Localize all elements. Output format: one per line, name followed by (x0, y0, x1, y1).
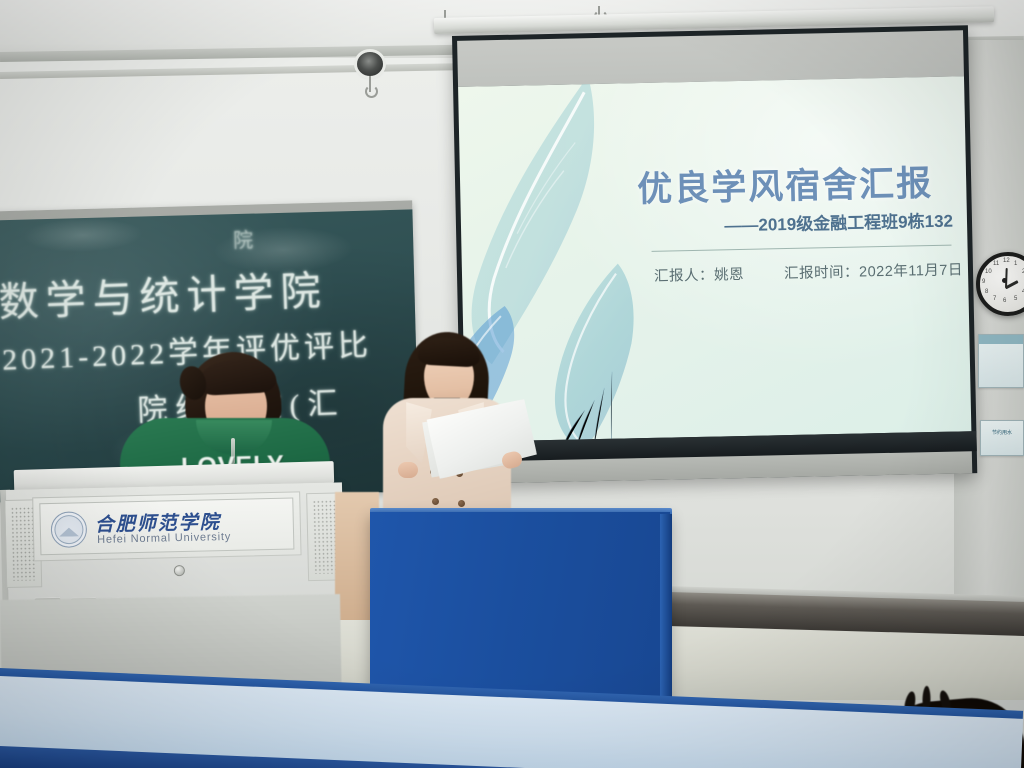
blackboard-line-1: 数学与统计学院 (0, 258, 328, 328)
slide-divider (652, 245, 952, 252)
hand-left (398, 462, 418, 478)
classroom-photo: 院 数学与统计学院 2021-2022学年评优评比 院级选拔(汇 (0, 0, 1024, 768)
sign-text (979, 344, 1023, 347)
slide-datetime: 汇报时间：2022年11月7日 (784, 258, 963, 283)
clock-numeral: 9 (982, 279, 985, 285)
sign-header-band (979, 335, 1023, 344)
plaque-name-en: Hefei Normal University (97, 531, 231, 546)
coat-button (432, 498, 439, 505)
seal-building-glyph (59, 527, 79, 536)
university-plaque: 合肥师范学院 Hefei Normal University (39, 497, 294, 555)
slide-presenter: 汇报人：姚恩 (654, 263, 744, 286)
clock-numeral: 1 (1014, 261, 1017, 267)
clock-center-pin (1002, 278, 1007, 283)
sign-text: 节约用水 (981, 421, 1023, 438)
presentation-slide: 优良学风宿舍汇报 ——2019级金融工程班9栋132 汇报人：姚恩 汇报时间：2… (458, 76, 971, 442)
blackboard-faint-text: 院 (233, 223, 260, 253)
coat-button (458, 500, 465, 507)
dome-camera-icon (357, 52, 383, 76)
podium-front-panel: 合肥师范学院 Hefei Normal University (32, 491, 301, 561)
clock-numeral: 12 (1003, 258, 1010, 264)
podium-lock-icon[interactable] (174, 565, 185, 576)
projection-screen: 优良学风宿舍汇报 ——2019级金融工程班9栋132 汇报人：姚恩 汇报时间：2… (452, 25, 977, 484)
feather-graphic-icon (458, 76, 685, 403)
blue-partition-panel (370, 512, 670, 712)
clock-numeral: 8 (985, 289, 988, 295)
feather-graphic-icon (522, 258, 706, 442)
clock-numeral: 10 (985, 269, 992, 275)
wall-sign-lower: 节约用水 (980, 420, 1024, 456)
wall-sign-upper (978, 334, 1024, 388)
clock-numeral: 7 (993, 296, 996, 302)
clock-numeral: 11 (993, 261, 999, 267)
ceiling-hook-icon (369, 76, 371, 92)
slide-title: 优良学风宿舍汇报 (620, 155, 951, 213)
slide-subtitle: ——2019级金融工程班9栋132 (631, 207, 953, 239)
chalk-smudge (22, 216, 143, 253)
university-seal-icon (51, 511, 88, 548)
blue-panel-side-edge (660, 514, 672, 712)
clock-numeral: 6 (1003, 298, 1006, 304)
clock-numeral: 5 (1014, 296, 1017, 302)
